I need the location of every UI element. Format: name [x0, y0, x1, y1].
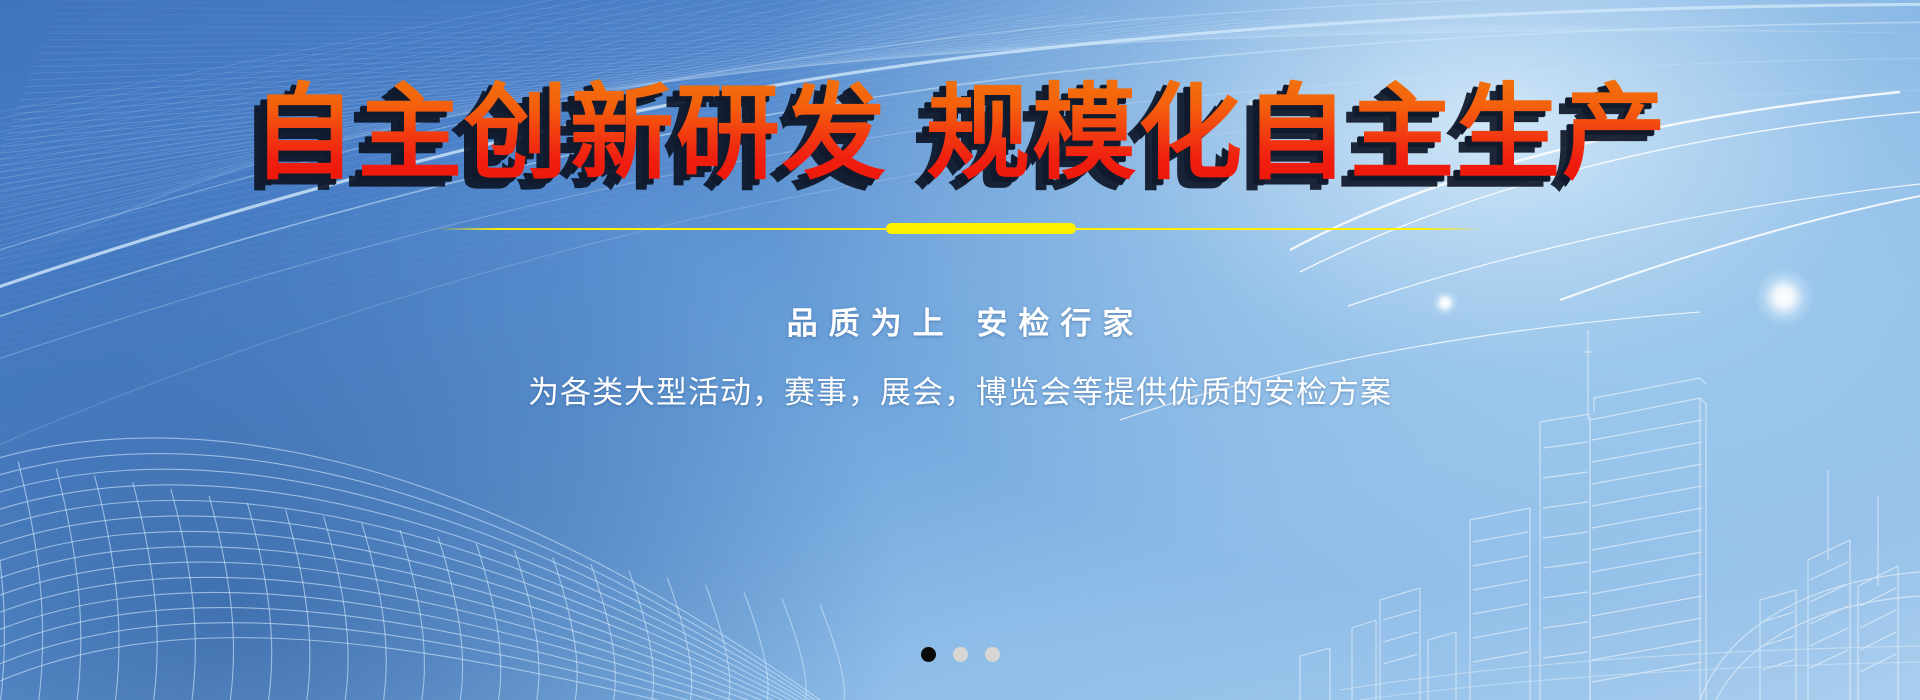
subtitle-primary: 品质为上 安检行家: [776, 298, 1145, 343]
carousel-dots[interactable]: [0, 647, 1920, 662]
subtitle-secondary: 为各类大型活动，赛事，展会，博览会等提供优质的安检方案: [528, 367, 1392, 412]
carousel-dot-3[interactable]: [985, 647, 1000, 662]
carousel-dot-2[interactable]: [953, 647, 968, 662]
banner-content: 自主创新研发 规模化自主生产 品质为上 安检行家 为各类大型活动，赛事，展会，博…: [0, 0, 1920, 700]
divider: [436, 222, 1484, 236]
divider-accent-bar: [886, 223, 1076, 234]
page-title: 自主创新研发 规模化自主生产: [252, 78, 1668, 188]
carousel-dot-1[interactable]: [921, 647, 936, 662]
hero-banner: 自主创新研发 规模化自主生产 品质为上 安检行家 为各类大型活动，赛事，展会，博…: [0, 0, 1920, 700]
